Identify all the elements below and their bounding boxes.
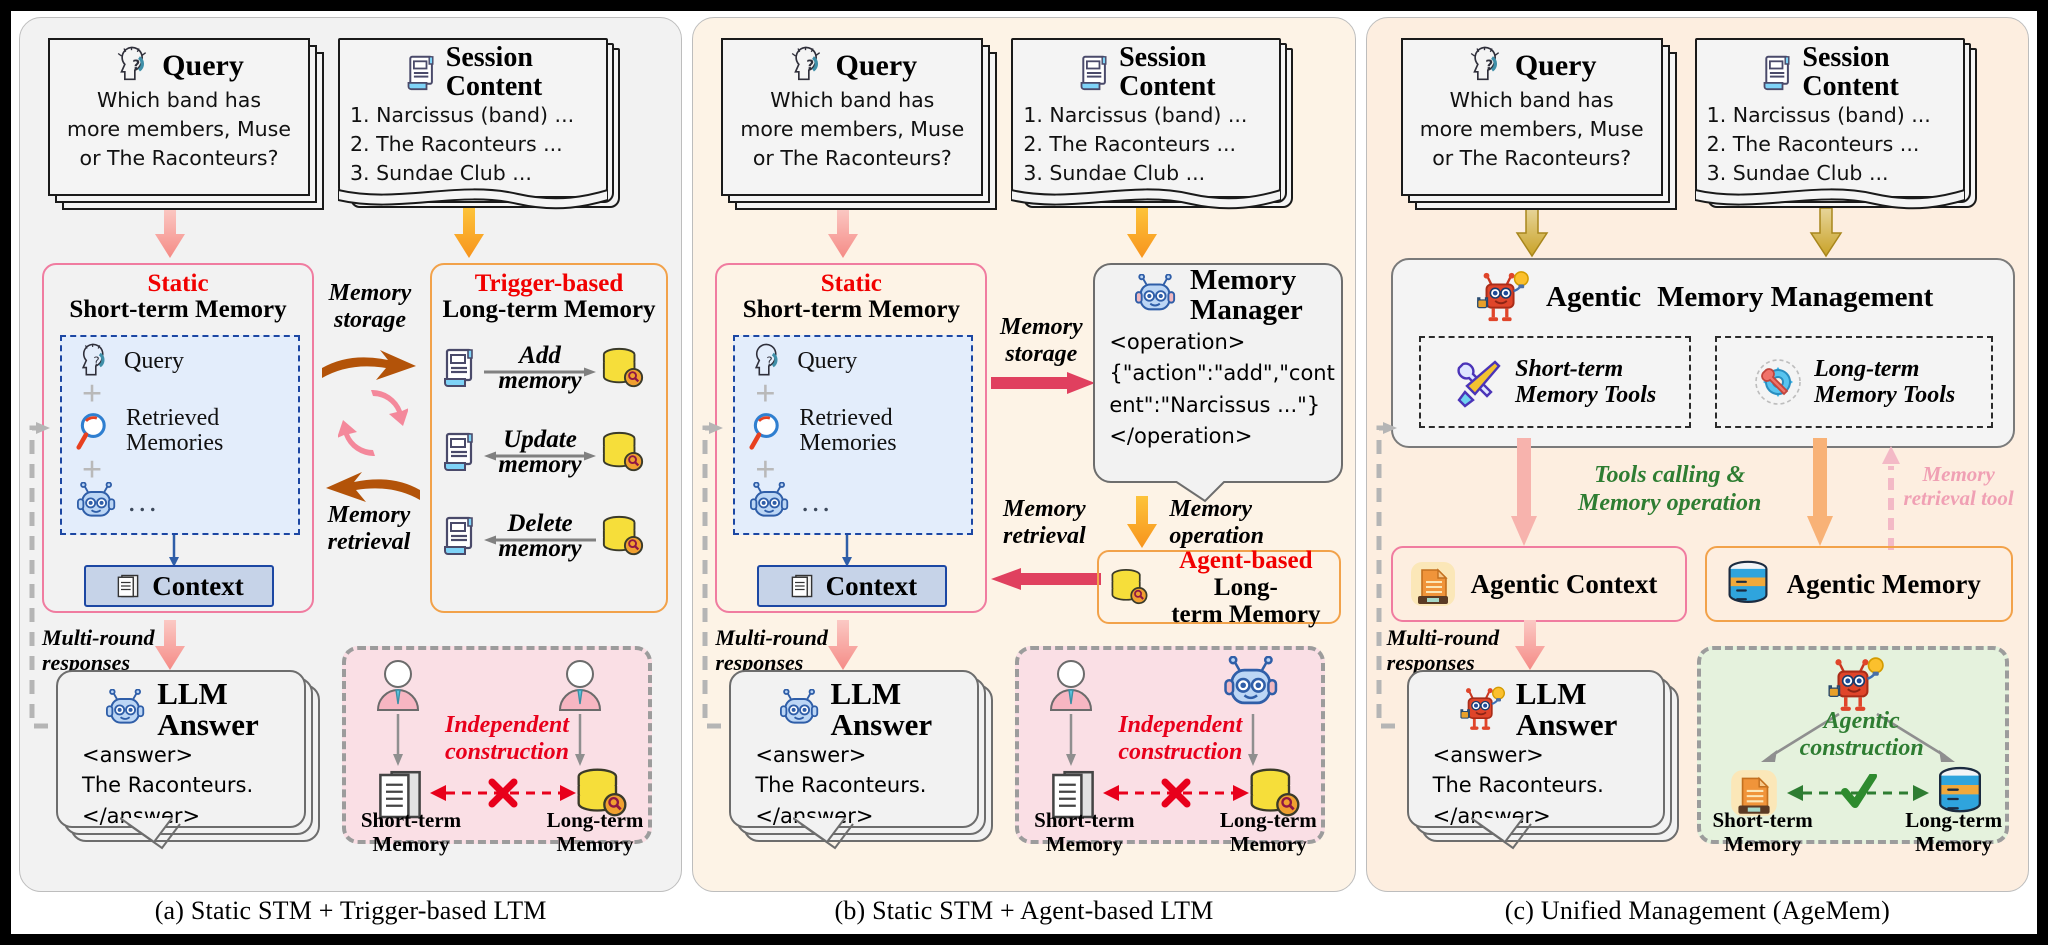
stm-label-query-b: Query: [797, 349, 857, 374]
query-card-title-b: Query: [836, 51, 918, 81]
llm-title-row-c: LLM Answer: [1419, 678, 1655, 740]
session-line-3: 3. Sundae Club ...: [350, 159, 600, 188]
cons-left-2-b: Memory: [1025, 832, 1143, 856]
stm-heading-a: Static Short-term Memory: [44, 265, 312, 324]
construction-left-label-a: Short-term Memory: [352, 808, 470, 856]
llm-answer-line-2-a: The Raconteurs.: [68, 770, 296, 800]
stm-label-retrieved-a: RetrievedMemories: [126, 406, 223, 456]
scroll-document-icon: [440, 346, 480, 390]
person-icon: [370, 658, 426, 714]
arrow-right-add-a: [484, 367, 596, 377]
cons-right-2-a: Memory: [536, 832, 654, 856]
thinking-head-icon: ?: [788, 46, 828, 86]
query-card-b: ? Query Which band has more members, Mus…: [721, 38, 983, 196]
arrow-session-to-ltm-a: [452, 208, 486, 260]
session-line-1-c: 1. Narcissus (band) ...: [1707, 101, 1957, 130]
thinking-head-icon: ?: [114, 46, 154, 86]
session-title-2-b: Content: [1119, 73, 1215, 102]
session-title-1-b: Session: [1119, 44, 1215, 73]
construction-right-label-c: Long-term Memory: [1895, 808, 2013, 856]
llm-answer-bubble-c: LLM Answer <answer> The Raconteurs. </an…: [1407, 670, 1665, 828]
caption-c: (c) Unified Management (AgeMem): [1366, 892, 2029, 934]
llm-answer-line-2-b: The Raconteurs.: [741, 770, 969, 800]
ltm-box-a: Trigger-based Long-term Memory: [430, 263, 668, 613]
stm-plus-1-a: +: [62, 381, 122, 406]
database-search-icon: [600, 346, 646, 390]
query-card-title-c: Query: [1515, 51, 1597, 81]
ltm-keyword-a: Trigger-based: [432, 271, 666, 297]
documents-icon: [788, 572, 816, 600]
panel-c-body: ? Query Which band has more members, Mus…: [1366, 17, 2029, 892]
stm-dots-b: ...: [801, 485, 833, 519]
blue-database-icon: [1721, 558, 1775, 610]
agent-ltm-rest-1-b: Long-: [1214, 574, 1278, 601]
panel-a-body: ? Query Which band has mor: [19, 17, 682, 892]
session-card-lines-b: 1. Narcissus (band) ... 2. The Raconteur…: [1019, 101, 1273, 188]
cons-label-1-c: Agentic: [1787, 708, 1937, 735]
stm-keyword-a: Static: [44, 271, 312, 297]
session-line-2-c: 2. The Raconteurs ...: [1707, 130, 1957, 159]
mm-code-2-b: {"action":"add","cont: [1095, 357, 1341, 388]
agent-ltm-rest-2-b: term Memory: [1162, 601, 1329, 628]
stm-plus-1-b: +: [735, 381, 795, 406]
stm-row-agent-b: ...: [735, 482, 971, 522]
query-card-lines: Which band has more members, Muse or The…: [58, 86, 300, 173]
session-line-2: 2. The Raconteurs ...: [350, 130, 600, 159]
session-card-title-row: Session Content: [346, 44, 600, 101]
session-title-2-c: Content: [1802, 73, 1898, 102]
cons-right-2-b: Memory: [1209, 832, 1327, 856]
scroll-document-icon: [440, 430, 480, 474]
query-line-1: Which band has: [58, 86, 300, 115]
session-line-1: 1. Narcissus (band) ...: [350, 101, 600, 130]
session-card-lines-c: 1. Narcissus (band) ... 2. The Raconteur…: [1703, 101, 1957, 188]
query-card-lines-c: Which band has more members, Muse or The…: [1411, 86, 1653, 173]
arrow-stm-to-context-b: [839, 535, 855, 569]
cons-left-1-a: Short-term: [352, 808, 470, 832]
panel-b-body: ? Query Which band has more members, Mus…: [692, 17, 1355, 892]
construction-box-a: Independent construction: [342, 646, 652, 844]
context-label-b: Context: [826, 571, 917, 602]
tools-calling-label-c: Tools calling & Memory operation: [1543, 462, 1797, 517]
arrow-stm-to-context-a: [166, 535, 182, 569]
robot-icon: [779, 689, 821, 729]
session-card-lines: 1. Narcissus (band) ... 2. The Raconteur…: [346, 101, 600, 188]
stm-title-a: Short-term Memory: [44, 297, 312, 323]
mm-code-1-b: <operation>: [1095, 326, 1341, 357]
magnifier-icon: [76, 410, 116, 452]
construction-label-b: Independent construction: [1105, 712, 1255, 766]
stm-inner-dashbox-b: ? Query + Retrie: [733, 335, 973, 535]
scroll-document-icon: [404, 53, 440, 93]
stm-plus-2-a: +: [62, 457, 122, 482]
construction-right-label-b: Long-term Memory: [1209, 808, 1327, 856]
session-line-3-c: 3. Sundae Club ...: [1707, 159, 1957, 188]
scroll-document-icon: [440, 514, 480, 558]
person-icon: [552, 658, 608, 714]
cons-label-1-b: Independent: [1105, 712, 1255, 739]
cons-left-2-c: Memory: [1703, 832, 1823, 856]
construction-left-label-c: Short-term Memory: [1703, 808, 1823, 856]
agent-ltm-text-b: Agent-based Long- term Memory: [1162, 547, 1329, 628]
ltm-tools-box-c[interactable]: Long-term Memory Tools: [1715, 336, 1993, 428]
robot-icon: [749, 482, 791, 522]
query-card-lines-b: Which band has more members, Muse or The…: [731, 86, 973, 173]
stm-tools-line1-c: Short-term: [1515, 356, 1656, 382]
stm-tools-box-c[interactable]: Short-term Memory Tools: [1419, 336, 1691, 428]
documents-icon: [114, 572, 142, 600]
retrieval-2-c: retrieval tool: [1895, 486, 2023, 510]
session-card-b: Session Content 1. Narcissus (band) ... …: [1011, 38, 1281, 198]
svg-text:?: ?: [806, 58, 814, 73]
thinking-head-icon: ?: [1467, 46, 1507, 86]
construction-box-c: Agentic construction: [1697, 646, 2009, 844]
session-card-a: Session Content 1. Narcissus (band) ... …: [338, 38, 608, 198]
svg-text:?: ?: [133, 58, 141, 73]
stm-label-query-a: Query: [124, 349, 184, 374]
database-search-icon: [600, 514, 646, 558]
arrow-to-llm-b: [826, 620, 860, 672]
panel-c: ? Query Which band has more members, Mus…: [1366, 17, 2029, 934]
op-row-delete-a: Delete memory: [440, 511, 646, 561]
tools-calling-2-c: Memory operation: [1543, 490, 1797, 518]
agent-robot-icon: [1456, 684, 1506, 734]
llm-title-1-c: LLM: [1516, 678, 1618, 709]
op-delete-top: Delete: [484, 511, 596, 536]
stm-label-retrieved-b: RetrievedMemories: [799, 406, 896, 456]
agentic-memory-management-box-c: Agentic Memory Management Short-term Mem…: [1391, 258, 2015, 448]
verified-link-c: [1787, 774, 1929, 812]
gear-tools-icon: [1752, 356, 1804, 408]
bubble-tail-b: [793, 816, 873, 850]
database-search-icon: [600, 430, 646, 474]
arrow-query-to-stm-a: [153, 208, 187, 260]
llm-title-1-b: LLM: [831, 678, 933, 709]
agent-ltm-box-b: Agent-based Long- term Memory: [1097, 550, 1341, 624]
cons-right-2-c: Memory: [1895, 832, 2013, 856]
op-add-top: Add: [484, 343, 596, 368]
arrow-left-delete-a: [484, 535, 596, 545]
memory-retrieval-arrow-b: [991, 566, 1101, 592]
llm-title-row-a: LLM Answer: [68, 678, 296, 740]
query-card-title-row: ? Query: [58, 46, 300, 86]
stm-dots-a: ...: [128, 485, 160, 519]
context-box-b[interactable]: Context: [757, 565, 947, 607]
retrieval-1-c: Memory: [1895, 462, 2023, 486]
amm-title-b-c: Memory Management: [1657, 281, 1933, 314]
robot-icon: [1223, 656, 1281, 712]
query-line-2-c: more members, Muse: [1411, 115, 1653, 144]
mm-code-4-b: </operation>: [1095, 420, 1341, 451]
cons-left-1-c: Short-term: [1703, 808, 1823, 832]
panel-b: ? Query Which band has more members, Mus…: [692, 17, 1355, 934]
blocked-link-a: [430, 776, 576, 810]
session-title-1: Session: [446, 44, 542, 73]
memory-retrieval-label-a: Memoryretrieval: [312, 502, 426, 556]
bubble-tail-a: [120, 816, 200, 850]
cons-right-1-b: Long-term: [1209, 808, 1327, 832]
arrow-query-to-amm-c: [1515, 208, 1549, 258]
scroll-document-icon: [1760, 53, 1796, 93]
session-title-2: Content: [446, 73, 542, 102]
session-line-2-b: 2. The Raconteurs ...: [1023, 130, 1273, 159]
stm-tools-line2-c: Memory Tools: [1515, 382, 1656, 408]
memory-storage-label-a: Memorystorage: [316, 280, 424, 334]
query-card-title: Query: [162, 51, 244, 81]
ltm-tools-line2-c: Memory Tools: [1814, 382, 1955, 408]
llm-answer-line-2-c: The Raconteurs.: [1419, 770, 1655, 800]
llm-title-2-a: Answer: [157, 709, 259, 740]
context-label-a: Context: [152, 571, 243, 602]
query-line-3-c: or The Raconteurs?: [1411, 144, 1653, 173]
session-card-title-row-b: Session Content: [1019, 44, 1273, 101]
bubble-tail-c: [1471, 816, 1551, 850]
llm-answer-line-1-b: <answer>: [741, 740, 969, 770]
query-line-1-c: Which band has: [1411, 86, 1653, 115]
cons-label-2-c: construction: [1787, 735, 1937, 762]
query-line-1-b: Which band has: [731, 86, 973, 115]
robot-icon: [105, 689, 147, 729]
memory-retrieval-label-b: Memoryretrieval: [989, 496, 1099, 550]
cycle-arrows-a: [338, 390, 408, 456]
magnifier-icon: [749, 410, 789, 452]
cons-left-1-b: Short-term: [1025, 808, 1143, 832]
query-line-2: more members, Muse: [58, 115, 300, 144]
construction-left-label-b: Short-term Memory: [1025, 808, 1143, 856]
memory-manager-box-b: Memory Manager <operation> {"action":"ad…: [1093, 263, 1343, 483]
book-bottom-wave: [338, 188, 608, 214]
scroll-document-icon: [1077, 53, 1113, 93]
agent-robot-icon: [1472, 268, 1530, 326]
book-bottom-wave-b: [1011, 188, 1281, 214]
mm-code-3-b: ent":"Narcissus ..."}: [1095, 389, 1341, 420]
svg-text:?: ?: [1485, 58, 1493, 73]
ltm-tools-line1-c: Long-term: [1814, 356, 1955, 382]
robot-icon: [76, 482, 118, 522]
construction-label-c: Agentic construction: [1787, 708, 1937, 762]
stm-keyword-b: Static: [717, 271, 985, 297]
stm-title-b: Short-term Memory: [717, 297, 985, 323]
arrow-memory-operation-b: [1125, 496, 1159, 550]
llm-title-2-b: Answer: [831, 709, 933, 740]
cons-label-2-b: construction: [1105, 739, 1255, 766]
query-line-3-b: or The Raconteurs?: [731, 144, 973, 173]
memory-manager-title-b: Memory Manager: [1095, 265, 1341, 326]
session-card-title-row-c: Session Content: [1703, 44, 1957, 101]
memory-storage-label-b: Memorystorage: [989, 314, 1093, 368]
book-bottom-wave-c: [1695, 188, 1965, 214]
stm-heading-b: Static Short-term Memory: [717, 265, 985, 324]
memory-storage-arrow-b: [991, 370, 1095, 396]
cons-right-1-a: Long-term: [536, 808, 654, 832]
arrow-down-left-b: [1063, 714, 1079, 768]
stm-box-a: Static Short-term Memory ?: [42, 263, 314, 613]
ltm-title-a: Long-term Memory: [432, 297, 666, 323]
session-line-3-b: 3. Sundae Club ...: [1023, 159, 1273, 188]
construction-box-b: Independent construction: [1015, 646, 1325, 844]
query-card-a: ? Query Which band has mor: [48, 38, 310, 196]
svg-text:?: ?: [93, 354, 99, 368]
amm-title-a-c: Agentic: [1546, 281, 1641, 314]
mm-title-1-b: Memory: [1190, 265, 1303, 295]
op-update-top: Update: [484, 427, 596, 452]
blocked-link-b: [1103, 776, 1249, 810]
memory-operation-label-b: Memoryoperation: [1169, 496, 1329, 550]
ltm-heading-a: Trigger-based Long-term Memory: [432, 265, 666, 324]
query-line-3: or The Raconteurs?: [58, 144, 300, 173]
agentic-context-box-c[interactable]: Agentic Context: [1391, 546, 1687, 622]
session-card-c: Session Content 1. Narcissus (band) ... …: [1695, 38, 1965, 198]
op-row-update-a: Update memory: [440, 427, 646, 477]
session-line-1-b: 1. Narcissus (band) ...: [1023, 101, 1273, 130]
query-card-title-row-b: ? Query: [731, 46, 973, 86]
agentic-context-label-c: Agentic Context: [1471, 569, 1658, 600]
llm-title-2-c: Answer: [1516, 709, 1618, 740]
figure-frame: ? Query Which band has mor: [8, 8, 2040, 937]
cons-left-2-a: Memory: [352, 832, 470, 856]
cons-label-2-a: construction: [432, 739, 582, 766]
memory-storage-arrow-a: [316, 336, 426, 386]
agentic-memory-label-c: Agentic Memory: [1787, 569, 1981, 600]
mm-title-2-b: Manager: [1190, 295, 1303, 325]
panel-a: ? Query Which band has mor: [19, 17, 682, 934]
person-icon: [1043, 658, 1099, 714]
agentic-memory-box-c[interactable]: Agentic Memory: [1705, 546, 2013, 622]
amm-title-row-c: Agentic Memory Management: [1393, 260, 2013, 326]
caption-a: (a) Static STM + Trigger-based LTM: [19, 892, 682, 934]
memory-retrieval-arrow-a: [314, 458, 426, 508]
agent-robot-icon: [1823, 654, 1885, 716]
arrow-amm-to-memory-c: [1805, 438, 1835, 548]
arrow-to-llm-c: [1513, 620, 1547, 672]
query-card-c: ? Query Which band has more members, Mus…: [1401, 38, 1663, 196]
query-card-title-row-c: ? Query: [1411, 46, 1653, 86]
construction-label-a: Independent construction: [432, 712, 582, 766]
llm-answer-bubble-b: LLM Answer <answer> The Raconteurs. </an…: [729, 670, 979, 828]
op-row-add-a: Add memory: [440, 343, 646, 393]
cons-label-1-a: Independent: [432, 712, 582, 739]
arrow-both-update-a: [484, 451, 596, 461]
arrow-query-to-stm-b: [826, 208, 860, 260]
arrow-session-to-amm-c: [1809, 208, 1843, 258]
tools-icon: [1453, 356, 1505, 408]
construction-right-label-a: Long-term Memory: [536, 808, 654, 856]
arrow-to-llm-a: [153, 620, 187, 672]
stm-box-b: Static Short-term Memory ? Query: [715, 263, 987, 613]
agent-ltm-keyword-b: Agent-based: [1179, 547, 1312, 574]
llm-answer-line-1-c: <answer>: [1419, 740, 1655, 770]
cons-right-1-c: Long-term: [1895, 808, 2013, 832]
llm-answer-line-1-a: <answer>: [68, 740, 296, 770]
arrow-session-to-manager-b: [1125, 208, 1159, 260]
orange-document-icon: [1407, 558, 1459, 610]
database-search-icon: [1109, 563, 1150, 611]
arrow-amm-to-context-c: [1509, 438, 1539, 548]
session-title-1-c: Session: [1802, 44, 1898, 73]
memory-retrieval-tool-label-c: Memory retrieval tool: [1895, 462, 2023, 510]
panels-container: ? Query Which band has mor: [11, 11, 2037, 934]
llm-answer-bubble-a: LLM Answer <answer> The Raconteurs. </an…: [56, 670, 306, 828]
context-box-a[interactable]: Context: [84, 565, 274, 607]
llm-title-row-b: LLM Answer: [741, 678, 969, 740]
caption-b: (b) Static STM + Agent-based LTM: [692, 892, 1355, 934]
llm-title-1-a: LLM: [157, 678, 259, 709]
arrow-down-left-a: [390, 714, 406, 768]
stm-inner-dashbox-a: ? Query +: [60, 335, 300, 535]
stm-row-agent-a: ...: [62, 482, 298, 522]
robot-icon: [1134, 274, 1178, 316]
tools-calling-1-c: Tools calling &: [1543, 462, 1797, 490]
svg-text:?: ?: [767, 354, 773, 368]
query-line-2-b: more members, Muse: [731, 115, 973, 144]
stm-plus-2-b: +: [735, 457, 795, 482]
